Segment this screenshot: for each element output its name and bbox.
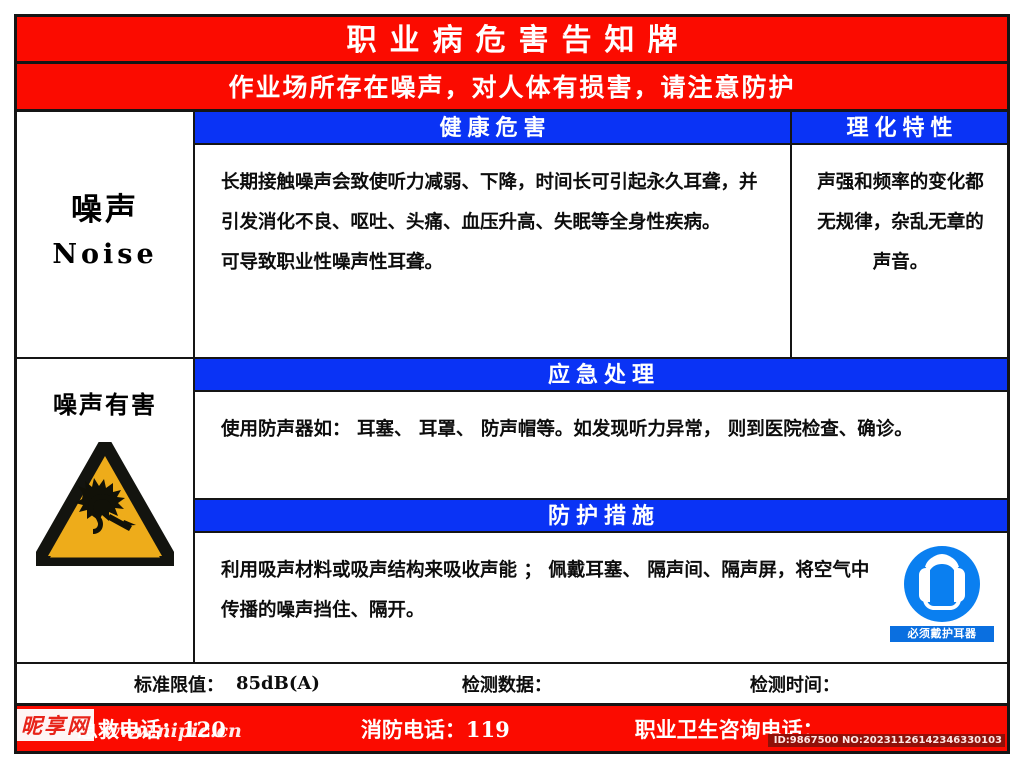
hazard-notification-board: 职业病危害告知牌 作业场所存在噪声，对人体有损害，请注意防护 噪声 Noise … [14, 14, 1010, 754]
id-stamp: ID:9867500 NO:20231126142346330103 [768, 734, 1005, 747]
physical-properties-body: 声强和频率的变化都无规律，杂乱无章的声音。 [792, 145, 1007, 357]
measurement-data-label: 检测数据： [462, 671, 552, 697]
hazard-info-columns: 健康危害 长期接触噪声会致使听力减弱、下降，时间长可引起永久耳聋，并引发消化不良… [195, 112, 1007, 357]
physical-properties-column: 理化特性 声强和频率的变化都无规律，杂乱无章的声音。 [792, 112, 1007, 357]
protection-heading: 防护措施 [195, 500, 1007, 533]
emergency-phone: 急救电话：120 [77, 714, 226, 744]
standard-limit-value: 85dB(A) [236, 673, 320, 694]
emergency-heading: 应急处理 [195, 359, 1007, 392]
hazard-name-cn: 噪声 [71, 191, 139, 230]
ppe-mandatory-sign: 必须戴护耳器 [890, 545, 994, 642]
physical-properties-paragraph: 声强和频率的变化都无规律，杂乱无章的声音。 [810, 163, 991, 283]
health-hazard-paragraph: 可导致职业性噪声性耳聋。 [221, 243, 768, 283]
health-hazard-heading: 健康危害 [195, 112, 790, 145]
measurement-row: 标准限值： 85dB(A) 检测数据： 检测时间： [17, 664, 1007, 706]
hazard-name-cell: 噪声 Noise [17, 112, 195, 357]
protection-body: 利用吸声材料或吸声结构来吸收声能 ； 佩戴耳塞、 隔声间、隔声屏，将空气中传播的… [195, 533, 1007, 662]
fire-phone: 消防电话：119 [361, 714, 510, 744]
response-columns: 应急处理 使用防声器如： 耳塞、 耳罩、 防声帽等。如发现听力异常， 则到医院检… [195, 359, 1007, 662]
standard-limit-label: 标准限值： [134, 671, 224, 697]
emergency-paragraph: 使用防声器如： 耳塞、 耳罩、 防声帽等。如发现听力异常， 则到医院检查、确诊。 [221, 410, 985, 450]
hazard-name-en: Noise [52, 239, 157, 270]
protection-paragraph: 利用吸声材料或吸声结构来吸收声能 ； 佩戴耳塞、 隔声间、隔声屏，将空气中传播的… [221, 551, 877, 631]
emergency-body: 使用防声器如： 耳塞、 耳罩、 防声帽等。如发现听力异常， 则到医院检查、确诊。 [195, 392, 1007, 500]
ppe-sign-label: 必须戴护耳器 [890, 626, 994, 642]
ear-protection-mandatory-icon [903, 545, 981, 623]
protection-text: 利用吸声材料或吸声结构来吸收声能 ； 佩戴耳塞、 隔声间、隔声屏，将空气中传播的… [195, 533, 1007, 631]
board-subtitle: 作业场所存在噪声，对人体有损害，请注意防护 [17, 64, 1007, 112]
section-response-info: 噪声有害 应急处理 使用防声器如： 耳塞、 耳罩、 防声 [17, 359, 1007, 664]
measurement-time-label: 检测时间： [750, 671, 840, 697]
noise-hazard-triangle-icon [36, 442, 174, 566]
health-hazard-paragraph: 长期接触噪声会致使听力减弱、下降，时间长可引起永久耳聋，并引发消化不良、呕吐、头… [221, 163, 768, 243]
health-hazard-body: 长期接触噪声会致使听力减弱、下降，时间长可引起永久耳聋，并引发消化不良、呕吐、头… [195, 145, 790, 357]
board-title: 职业病危害告知牌 [17, 17, 1007, 64]
health-hazard-column: 健康危害 长期接触噪声会致使听力减弱、下降，时间长可引起永久耳聋，并引发消化不良… [195, 112, 792, 357]
warning-label: 噪声有害 [53, 385, 157, 420]
contact-row: 急救电话：120 消防电话：119 职业卫生咨询电话： ID:9867500 N… [17, 706, 1007, 751]
section-hazard-info: 噪声 Noise 健康危害 长期接触噪声会致使听力减弱、下降，时间长可引起永久耳… [17, 112, 1007, 359]
warning-icon-cell: 噪声有害 [17, 359, 195, 662]
physical-properties-heading: 理化特性 [792, 112, 1007, 145]
